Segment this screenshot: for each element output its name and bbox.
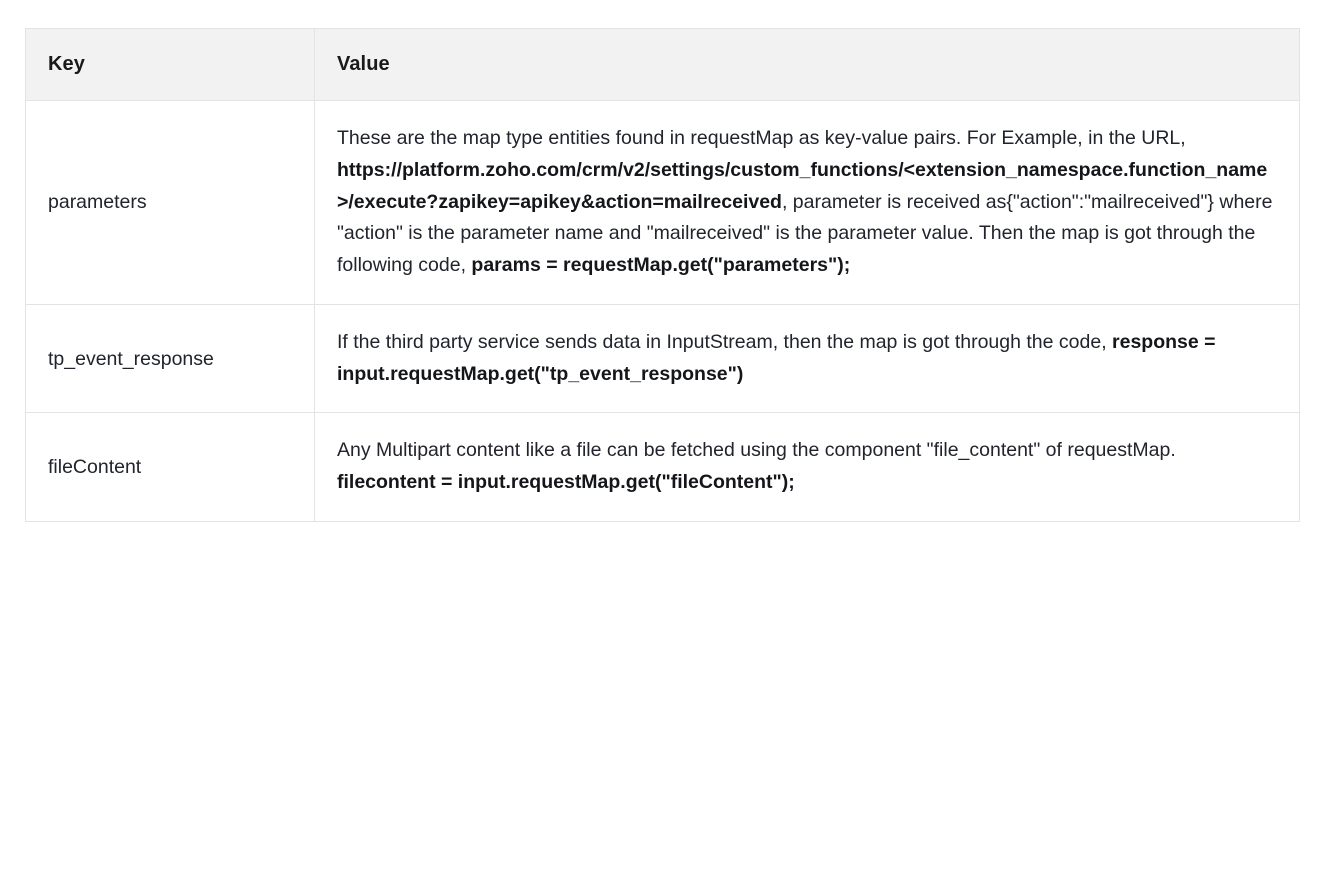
cell-key: tp_event_response (26, 304, 315, 413)
cell-value: These are the map type entities found in… (315, 101, 1300, 305)
cell-value: If the third party service sends data in… (315, 304, 1300, 413)
request-map-keys-table: Key Value parameters These are the map t… (25, 28, 1300, 522)
cell-key: fileContent (26, 413, 315, 522)
page-container: Key Value parameters These are the map t… (0, 0, 1338, 886)
column-header-key: Key (26, 29, 315, 101)
rich-text-value: These are the map type entities found in… (337, 123, 1277, 282)
table-header-row: Key Value (26, 29, 1300, 101)
rich-text-value: Any Multipart content like a file can be… (337, 435, 1277, 499)
table-row: parameters These are the map type entiti… (26, 101, 1300, 305)
rich-text-value: If the third party service sends data in… (337, 327, 1277, 391)
table-header: Key Value (26, 29, 1300, 101)
table-row: fileContent Any Multipart content like a… (26, 413, 1300, 522)
column-header-value: Value (315, 29, 1300, 101)
table-row: tp_event_response If the third party ser… (26, 304, 1300, 413)
cell-value: Any Multipart content like a file can be… (315, 413, 1300, 522)
table-body: parameters These are the map type entiti… (26, 101, 1300, 522)
cell-key: parameters (26, 101, 315, 305)
